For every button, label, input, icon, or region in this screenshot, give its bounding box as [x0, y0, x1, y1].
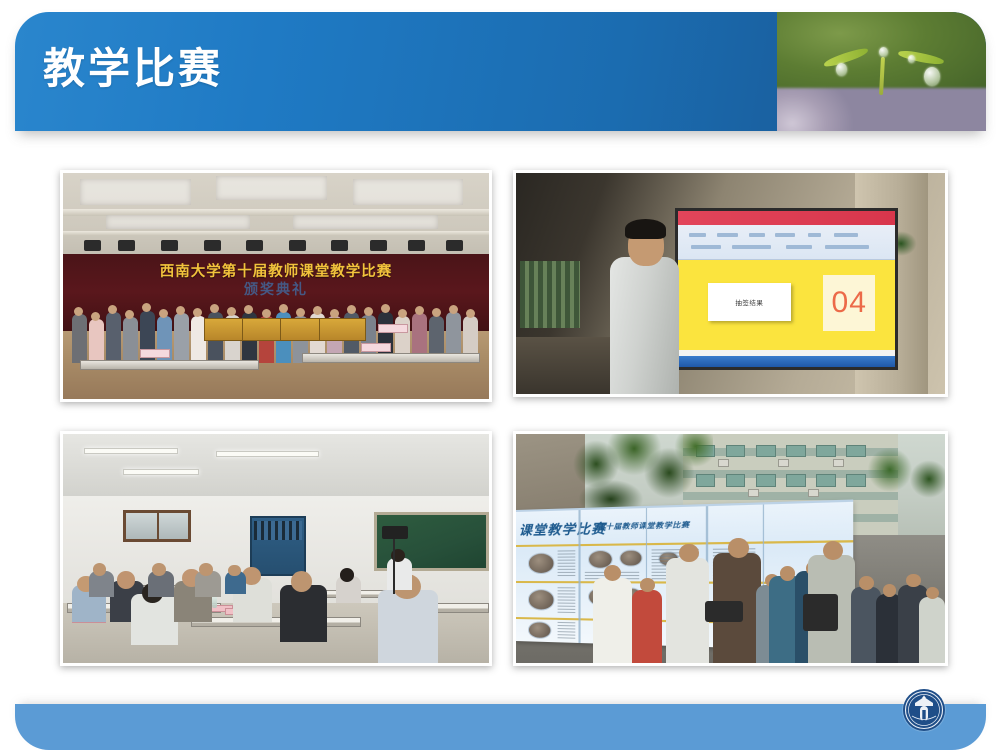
draw-number-box: 04	[823, 275, 875, 331]
slide-header-band: 教学比赛	[15, 12, 986, 131]
seedling-photo-icon	[777, 12, 986, 131]
photo-award-group[interactable]: 西南大学第十届教师课堂教学比赛 颁奖典礼	[60, 170, 492, 402]
camera-tripod	[393, 535, 395, 595]
classroom-door	[250, 516, 305, 576]
award-plaque	[319, 318, 366, 341]
presenter-body	[610, 257, 679, 394]
projection-screen: 抽签结果 04	[675, 208, 898, 369]
side-tree	[859, 439, 945, 517]
draw-number: 04	[832, 288, 867, 318]
photo-classroom-judges[interactable]	[60, 431, 492, 666]
university-emblem-logo-icon	[900, 686, 948, 734]
presentation-slide: 教学比赛	[0, 0, 1000, 750]
photo-draw-lots[interactable]: 抽签结果 04	[513, 170, 948, 397]
slide-yellow-area: 抽签结果 04	[678, 260, 895, 350]
table-name-card	[378, 324, 408, 333]
draw-result-label: 抽签结果	[735, 297, 763, 307]
front-table	[302, 353, 481, 363]
classroom-window	[123, 510, 191, 542]
table-name-card	[140, 349, 170, 358]
competition-banner-text: 西南大学第十届教师课堂教学比赛	[160, 260, 393, 281]
page-title: 教学比赛	[43, 35, 223, 96]
video-camera	[382, 526, 408, 539]
stage-lights	[63, 234, 489, 254]
presenter-hair	[625, 219, 666, 239]
table-name-card	[361, 343, 391, 352]
slide-footer-band	[15, 704, 986, 750]
window-grille	[520, 261, 580, 327]
audience-desk	[191, 617, 361, 627]
draw-result-card: 抽签结果	[708, 283, 790, 321]
photo-outdoor-exhibition[interactable]: 生命科学学院 课堂教学比赛 第十届教师课堂教学比赛	[513, 431, 948, 666]
classroom-ceiling	[63, 434, 489, 496]
front-table	[80, 360, 259, 370]
